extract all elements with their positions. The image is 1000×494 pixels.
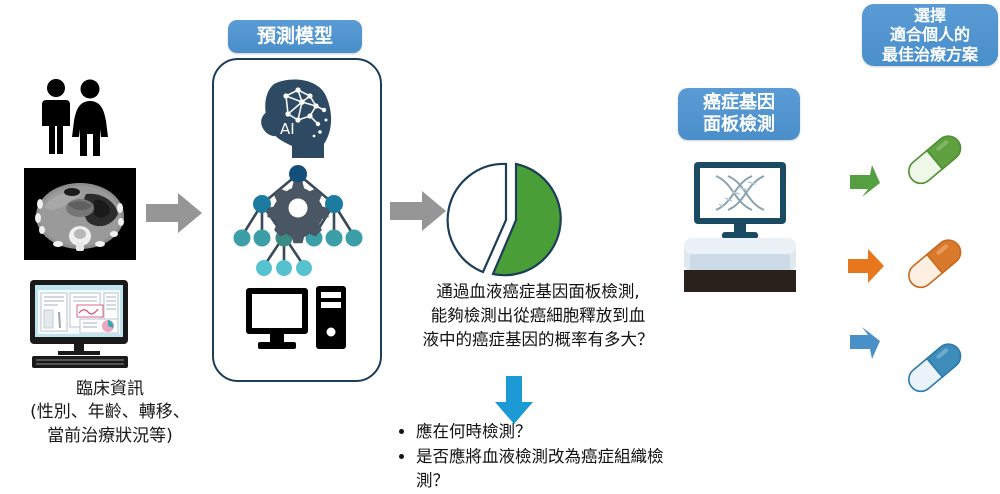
list-item: 是否應將血液檢測改為癌症組織檢測？: [416, 445, 696, 492]
center-question-text: 通過血液癌症基因面板檢測, 能夠檢測出從癌細胞釋放到血 液中的癌症基因的概率有多…: [378, 280, 698, 352]
prediction-model-container: AI: [212, 58, 382, 382]
ai-brain-head-icon: AI: [244, 76, 350, 162]
arrow-right-orange-icon: [846, 247, 886, 285]
decision-tree-gear-icon: [224, 160, 372, 282]
arrow-up-right-green-icon: [846, 163, 886, 201]
list-item: 應在何時檢測？: [416, 420, 696, 443]
arrow-down-right-blue-icon: [846, 325, 886, 363]
badge-treatment-line-1: 選擇: [882, 6, 978, 26]
badge-treatment-line-2: 適合個人的: [882, 25, 978, 45]
question-line-2: 能夠檢測出從癌細胞釋放到血: [378, 304, 698, 328]
clinical-info-caption: 臨床資訊 (性別、年齡、轉移、 當前治療狀況等): [0, 378, 220, 448]
question-line-1: 通過血液癌症基因面板檢測,: [378, 280, 698, 304]
blue-down-arrow-icon: [492, 376, 536, 424]
capsule-blue-icon: [898, 336, 970, 398]
badge-gene-panel-test: 癌症基因 面板檢測: [678, 88, 800, 140]
question-line-3: 液中的癌症基因的概率有多大？: [378, 328, 698, 352]
capsule-orange-icon: [898, 232, 970, 294]
caption-line-3: 當前治療狀況等): [0, 425, 220, 448]
capsule-green-icon: [898, 128, 970, 190]
pie-slice-undetected: [448, 164, 506, 272]
badge-predictive-model-label: 預測模型: [257, 25, 333, 48]
ai-label: AI: [280, 120, 295, 138]
clinical-records-monitor-icon: [22, 278, 138, 370]
badge-gene-panel-line-2: 面板檢測: [703, 114, 775, 136]
abdominal-ct-scan-image: [24, 168, 136, 260]
desktop-computer-icon: [244, 282, 352, 358]
detection-probability-pie-chart: [446, 158, 582, 282]
caption-line-1: 臨床資訊: [0, 378, 220, 401]
badge-gene-panel-line-1: 癌症基因: [703, 92, 775, 114]
gray-right-arrow-icon-2: [390, 190, 446, 232]
followup-questions-list: 應在何時檢測？ 是否應將血液檢測改為癌症組織檢測？: [396, 420, 696, 494]
dna-sequencer-machine-icon: [672, 160, 808, 292]
badge-optimal-treatment: 選擇 適合個人的 最佳治療方案: [862, 4, 998, 66]
gray-right-arrow-icon: [146, 192, 202, 234]
badge-treatment-line-3: 最佳治療方案: [882, 45, 978, 65]
caption-line-2: (性別、年齡、轉移、: [0, 401, 220, 424]
badge-predictive-model: 預測模型: [228, 20, 362, 53]
male-female-patients-icon: [38, 78, 114, 156]
